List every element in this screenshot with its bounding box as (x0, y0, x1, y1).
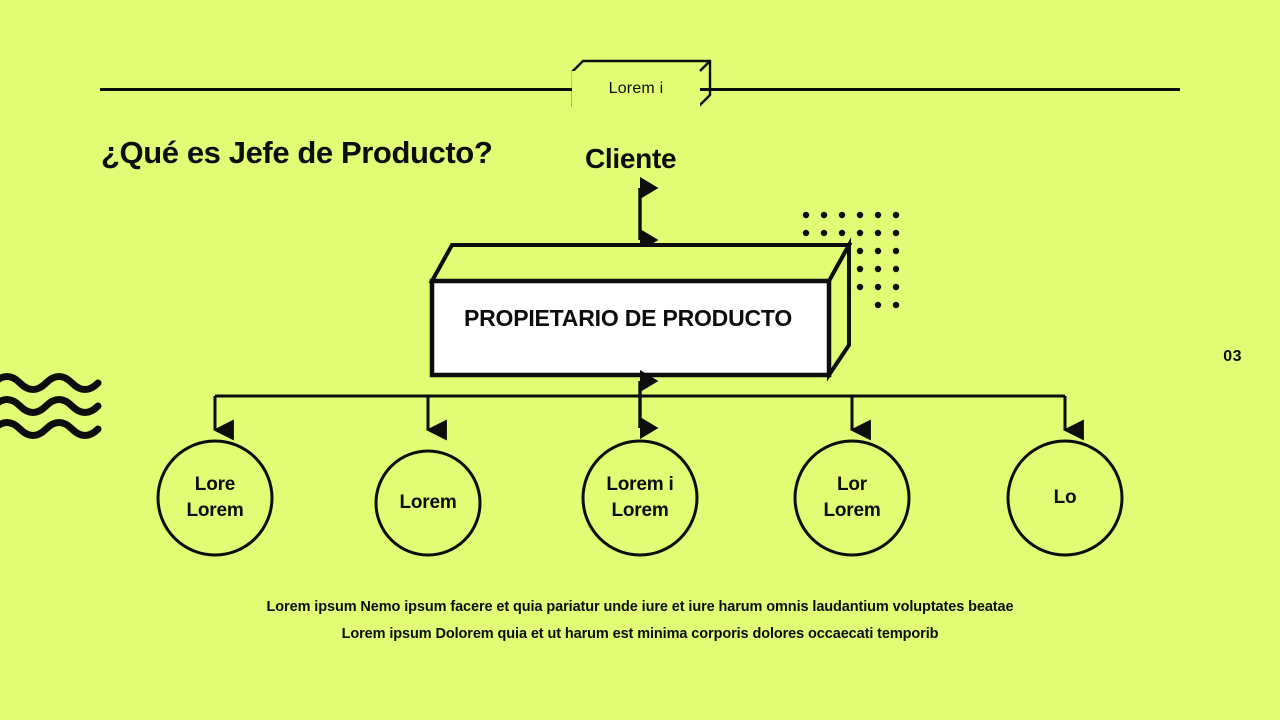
caption-line-2: Lorem ipsum Dolorem quia et ut harum est… (0, 621, 1280, 648)
node-4-line1: Lor (823, 472, 880, 498)
node-label-3: Lorem i Lorem (583, 441, 697, 555)
node-label-4: Lor Lorem (795, 441, 909, 555)
connector-drops (215, 396, 1065, 430)
node-4-line2: Lorem (823, 498, 880, 524)
page-number: 03 (1223, 348, 1242, 366)
header-tab[interactable]: Lorem i (572, 62, 708, 107)
node-1-line1: Lore (186, 472, 243, 498)
product-owner-label: PROPIETARIO DE PRODUCTO (433, 305, 823, 332)
slide-canvas: Lorem i ¿Qué es Jefe de Producto? Client… (0, 0, 1280, 720)
node-2-line1: Lorem (399, 490, 456, 516)
page-title: ¿Qué es Jefe de Producto? (101, 135, 492, 171)
node-3-line1: Lorem i (606, 472, 673, 498)
client-label: Cliente (585, 143, 676, 175)
caption-line-1: Lorem ipsum Nemo ipsum facere et quia pa… (0, 594, 1280, 621)
node-label-2: Lorem (376, 451, 480, 555)
node-label-1: Lore Lorem (158, 441, 272, 555)
header-tab-label: Lorem i (572, 71, 700, 107)
node-1-line2: Lorem (186, 498, 243, 524)
node-label-5: Lo (1008, 441, 1122, 555)
dot-grid-decoration-icon (803, 212, 899, 308)
node-3-line2: Lorem (606, 498, 673, 524)
node-5-line1: Lo (1054, 485, 1077, 511)
wave-decoration-icon (0, 377, 98, 436)
caption-block: Lorem ipsum Nemo ipsum facere et quia pa… (0, 594, 1280, 648)
